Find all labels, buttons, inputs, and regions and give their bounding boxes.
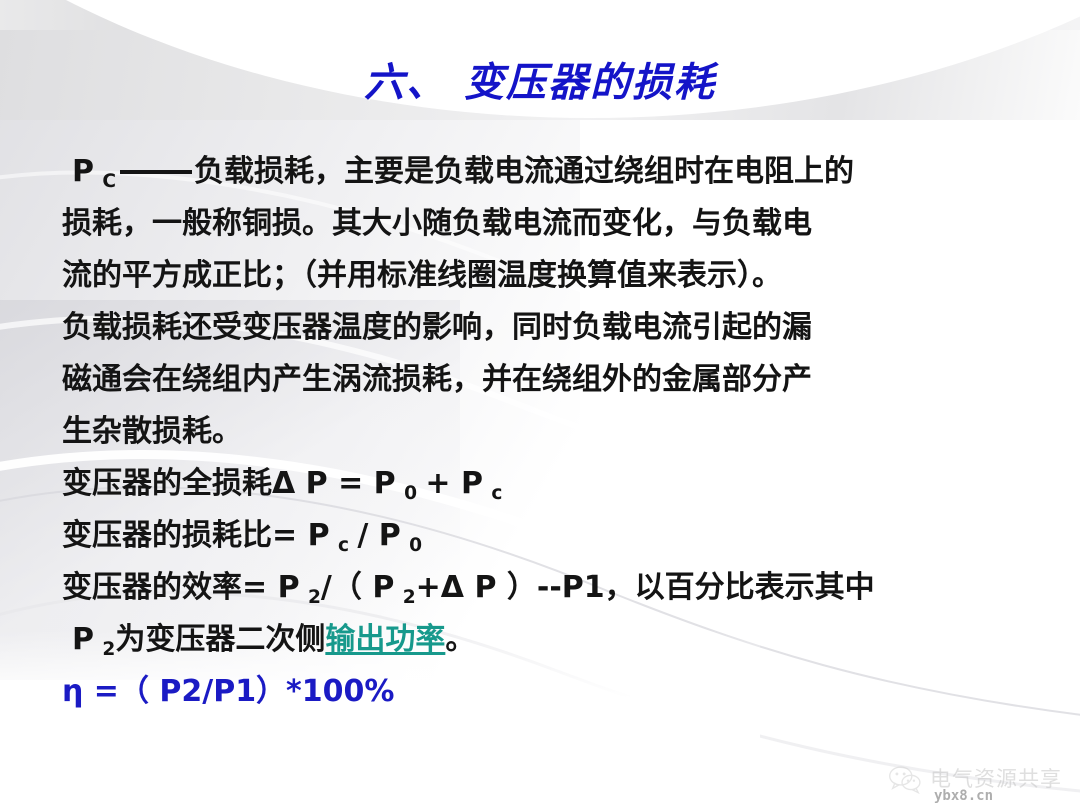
formula-total-mid: + P: [425, 466, 483, 501]
watermark-brand-wrap: 电气资源共享 ybx8.cn: [930, 769, 1062, 790]
formula-ratio-sub-0: 0: [409, 535, 422, 556]
formula-p2-tail: 。: [445, 622, 475, 657]
formula-ratio-lead: 变压器的损耗比= P: [62, 518, 330, 553]
body-line-1-rest: 负载损耗，主要是负载电流通过绕组时在电阻上的: [194, 154, 854, 189]
output-power-link[interactable]: 输出功率: [325, 622, 445, 657]
formula-p2-mid: 为变压器二次侧: [115, 622, 325, 657]
watermark-brand: 电气资源共享: [930, 767, 1062, 791]
formula-p2-lead: P: [72, 622, 94, 657]
formula-total-sub-0: 0: [404, 483, 417, 504]
formula-eff-sub-2b: 2: [403, 587, 416, 608]
formula-total-loss: 变压器的全损耗Δ P = P0+ Pc: [62, 458, 1022, 510]
page-title: 六、 变压器的损耗: [0, 50, 1080, 108]
background-top-band: [0, 0, 1080, 30]
body-line-5: 磁通会在绕组内产生涡流损耗，并在绕组外的金属部分产: [62, 354, 1022, 406]
slide-root: 六、 变压器的损耗 PC负载损耗，主要是负载电流通过绕组时在电阻上的 损耗，一般…: [0, 0, 1080, 810]
watermark-domain: ybx8.cn: [934, 789, 993, 803]
body-line-4: 负载损耗还受变压器温度的影响，同时负载电流引起的漏: [62, 302, 1022, 354]
body-line-6: 生杂散损耗。: [62, 406, 1022, 458]
watermark: 电气资源共享 ybx8.cn: [888, 764, 1062, 794]
wechat-icon: [888, 764, 922, 794]
body-line-2: 损耗，一般称铜损。其大小随负载电流而变化，与负载电: [62, 198, 1022, 250]
body-line-1: PC负载损耗，主要是负载电流通过绕组时在电阻上的: [62, 146, 1022, 198]
body-line-3: 流的平方成正比；（并用标准线圈温度换算值来表示）。: [62, 250, 1022, 302]
formula-p2-definition: P2为变压器二次侧输出功率。: [62, 614, 1022, 666]
formula-eff-lead: 变压器的效率= P: [62, 570, 300, 605]
formula-total-sub-c: c: [491, 483, 502, 504]
formula-eff-mid: /（ P: [321, 570, 394, 605]
formula-total-lead: 变压器的全损耗Δ P = P: [62, 466, 396, 501]
formula-p2-sub-2: 2: [102, 639, 115, 660]
formula-loss-ratio: 变压器的损耗比= Pc/ P0: [62, 510, 1022, 562]
formula-efficiency: 变压器的效率= P2/（ P2+Δ P ）--P1，以百分比表示其中: [62, 562, 1022, 614]
formula-eff-sub-2a: 2: [308, 587, 321, 608]
formula-eff-tail: +Δ P ）--P1，以百分比表示其中: [416, 570, 875, 605]
efficiency-equation: η =（ P2/P1）*100%: [62, 666, 1022, 718]
em-dash-rule: [120, 170, 192, 174]
subscript-c: C: [102, 171, 116, 192]
symbol-p: P: [72, 154, 94, 189]
formula-ratio-sub-c: c: [338, 535, 349, 556]
formula-ratio-mid: / P: [357, 518, 400, 553]
slide-body: PC负载损耗，主要是负载电流通过绕组时在电阻上的 损耗，一般称铜损。其大小随负载…: [62, 146, 1022, 718]
